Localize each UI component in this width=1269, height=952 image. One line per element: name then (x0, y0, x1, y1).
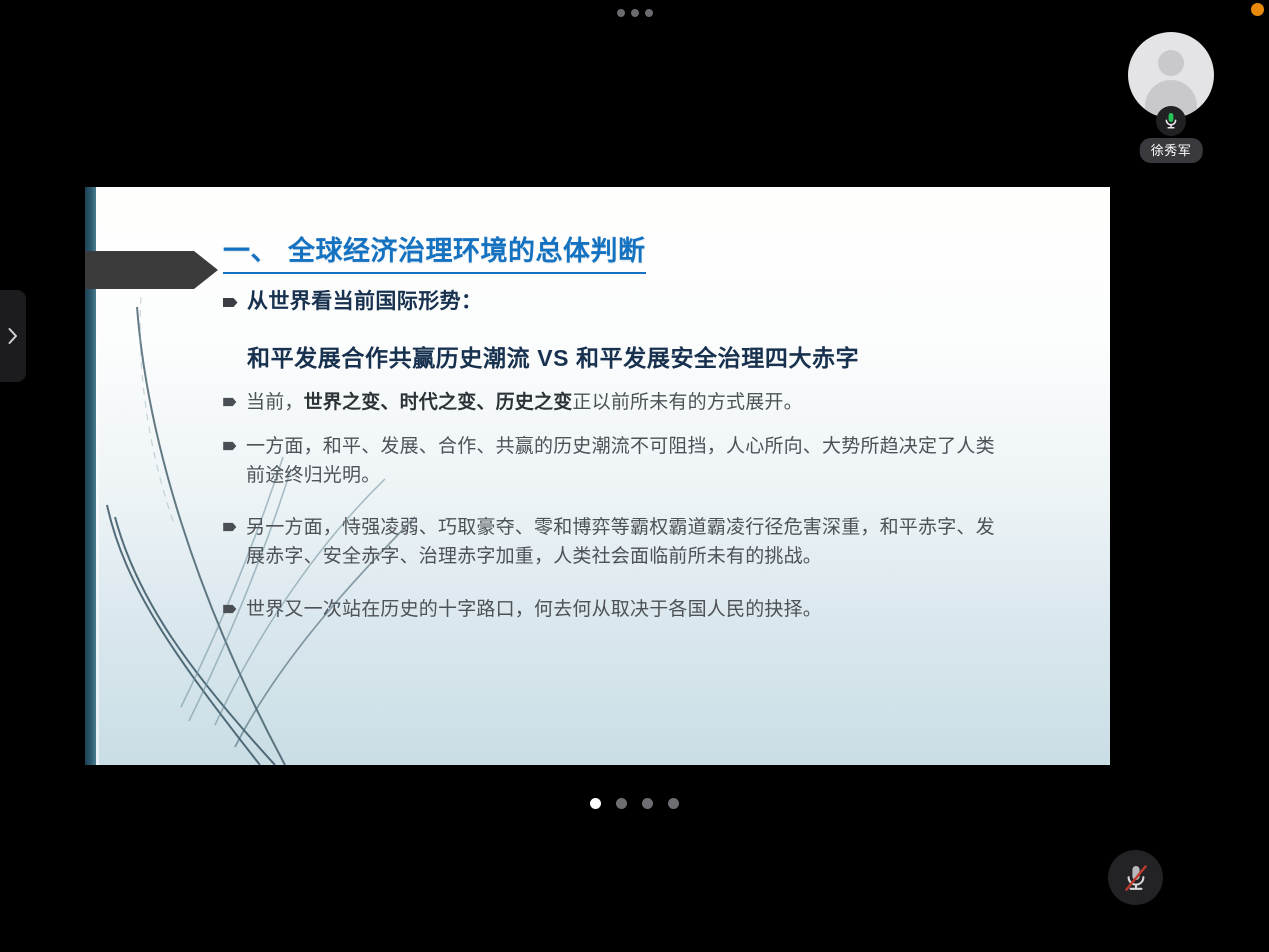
slide-bullet-text: 另一方面，恃强凌弱、巧取豪夺、零和博弈等霸权霸道霸凌行径危害深重，和平赤字、发展… (246, 513, 1013, 572)
slide-bullet-row-3: 另一方面，恃强凌弱、巧取豪夺、零和博弈等霸权霸道霸凌行径危害深重，和平赤字、发展… (223, 513, 1013, 572)
plain-text: 世界又一次站在历史的十字路口，何去何从取决于各国人民的抉择。 (246, 599, 822, 620)
shared-slide: 一、全球经济治理环境的总体判断 从世界看当前国际形势： 和平发展合作共赢历史潮流… (85, 187, 1110, 765)
pennant-bullet-icon (223, 297, 238, 308)
chevron-right-icon (7, 327, 19, 345)
slide-banner-arrow-shape (85, 249, 219, 291)
pennant-bullet-icon (223, 397, 237, 407)
pennant-bullet-icon (223, 604, 237, 614)
more-options-button[interactable] (617, 7, 653, 19)
slide-title-number: 一、 (223, 236, 278, 266)
slide-title: 一、全球经济治理环境的总体判断 (223, 229, 646, 274)
participant-name-chip: 徐秀军 (1140, 138, 1203, 163)
participant-tile[interactable]: 徐秀军 (1128, 32, 1214, 164)
pennant-bullet-icon (223, 441, 237, 451)
slide-bullet-row-2: 一方面，和平、发展、合作、共赢的历史潮流不可阻挡，人心所向、大势所趋决定了人类前… (223, 432, 1013, 491)
slide-headline: 和平发展合作共赢历史潮流 VS 和平发展安全治理四大赤字 (247, 339, 859, 373)
slide-text-content: 一、全球经济治理环境的总体判断 从世界看当前国际形势： 和平发展合作共赢历史潮流… (223, 187, 1096, 765)
microphone-muted-icon (1123, 863, 1149, 893)
more-dot-3 (645, 9, 653, 17)
slide-pagination[interactable] (0, 798, 1269, 809)
pagination-dot-4[interactable] (668, 798, 679, 809)
mute-toggle-button[interactable] (1108, 850, 1163, 905)
emphasis-text: 世界之变、时代之变、历史之变 (304, 392, 573, 413)
recording-indicator-dot (1251, 3, 1264, 16)
pagination-dot-3[interactable] (642, 798, 653, 809)
slide-title-text: 全球经济治理环境的总体判断 (288, 236, 646, 266)
participant-mic-status-badge (1156, 106, 1186, 136)
expand-panel-handle[interactable] (0, 290, 26, 382)
slide-subheading: 从世界看当前国际形势： (247, 288, 482, 316)
microphone-icon (1164, 112, 1178, 130)
more-dot-2 (631, 9, 639, 17)
slide-bullet-text: 世界又一次站在历史的十字路口，何去何从取决于各国人民的抉择。 (246, 595, 822, 624)
person-avatar-icon-head (1158, 50, 1184, 76)
plain-text: 另一方面，恃强凌弱、巧取豪夺、零和博弈等霸权霸道霸凌行径危害深重，和平赤字、发展… (246, 517, 995, 567)
more-dot-1 (617, 9, 625, 17)
slide-subheading-row: 从世界看当前国际形势： (223, 288, 482, 316)
meeting-screen-share-view: 徐秀军 (0, 0, 1269, 952)
pagination-dot-1[interactable] (590, 798, 601, 809)
plain-text: 正以前所未有的方式展开。 (572, 392, 802, 413)
slide-bullet-text: 一方面，和平、发展、合作、共赢的历史潮流不可阻挡，人心所向、大势所趋决定了人类前… (246, 432, 1013, 491)
pagination-dot-2[interactable] (616, 798, 627, 809)
plain-text: 一方面，和平、发展、合作、共赢的历史潮流不可阻挡，人心所向、大势所趋决定了人类前… (246, 436, 995, 486)
slide-bullet-text: 当前，世界之变、时代之变、历史之变正以前所未有的方式展开。 (246, 388, 803, 417)
pennant-bullet-icon (223, 522, 237, 532)
plain-text: 当前， (246, 392, 304, 413)
slide-bullet-row-1: 当前，世界之变、时代之变、历史之变正以前所未有的方式展开。 (223, 388, 803, 417)
slide-bullet-row-4: 世界又一次站在历史的十字路口，何去何从取决于各国人民的抉择。 (223, 595, 822, 624)
